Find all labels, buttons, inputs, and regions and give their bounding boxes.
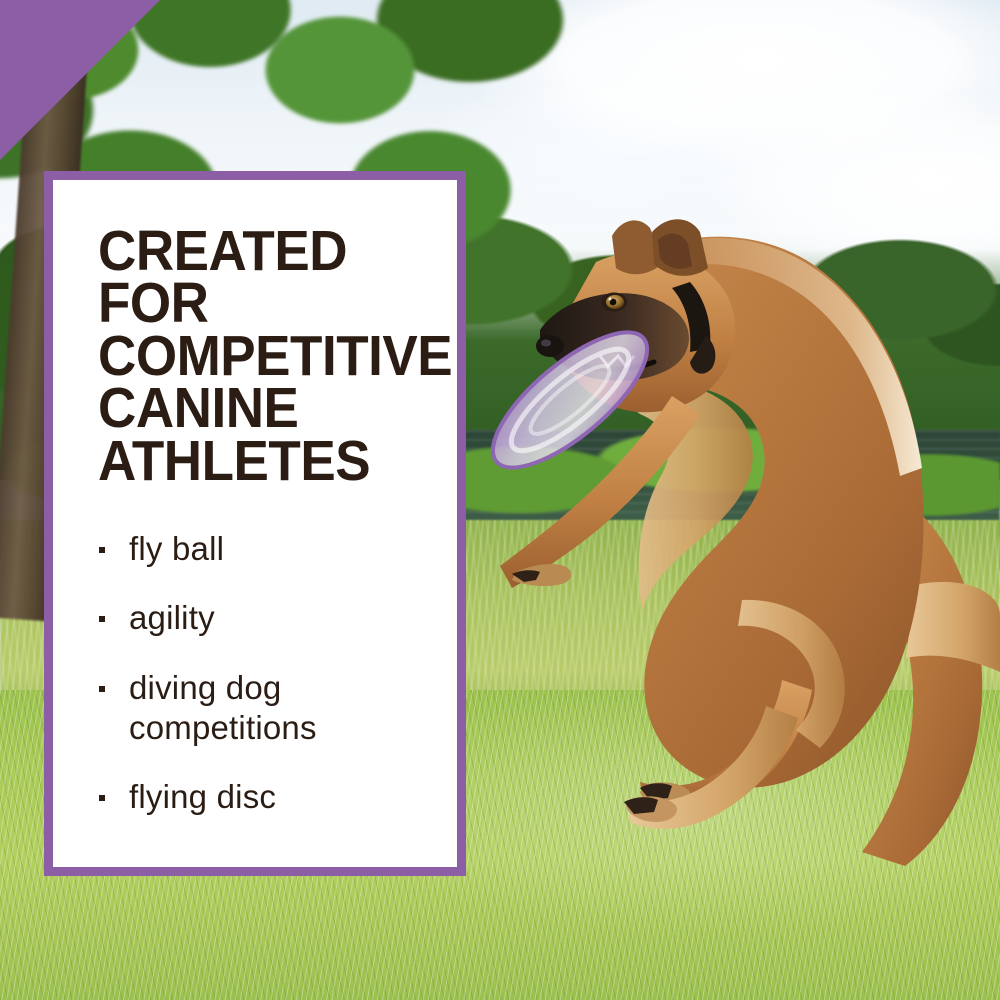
info-card-content: CREATED FOR COMPETITIVE CANINE ATHLETES … — [53, 180, 457, 817]
list-item: agility — [98, 598, 423, 638]
list-item-label: fly ball — [129, 530, 224, 567]
activity-list: fly ball agility diving dog competitions… — [98, 529, 423, 817]
dog-nose — [536, 335, 564, 357]
poster-canvas: CREATED FOR COMPETITIVE CANINE ATHLETES … — [0, 0, 1000, 1000]
square-bullet-icon — [99, 686, 105, 692]
dog-nose-highlight — [541, 340, 551, 347]
square-bullet-icon — [99, 616, 105, 622]
list-item: diving dog competitions — [98, 668, 423, 749]
dog-eye-highlight — [609, 298, 612, 301]
list-item-label: flying disc — [129, 778, 276, 815]
page-title: CREATED FOR COMPETITIVE CANINE ATHLETES — [98, 225, 400, 487]
info-card: CREATED FOR COMPETITIVE CANINE ATHLETES … — [44, 171, 466, 876]
list-item: flying disc — [98, 777, 423, 817]
list-item: fly ball — [98, 529, 423, 569]
list-item-label: diving dog competitions — [129, 669, 317, 746]
list-item-label: agility — [129, 599, 215, 636]
square-bullet-icon — [99, 547, 105, 553]
square-bullet-icon — [99, 795, 105, 801]
